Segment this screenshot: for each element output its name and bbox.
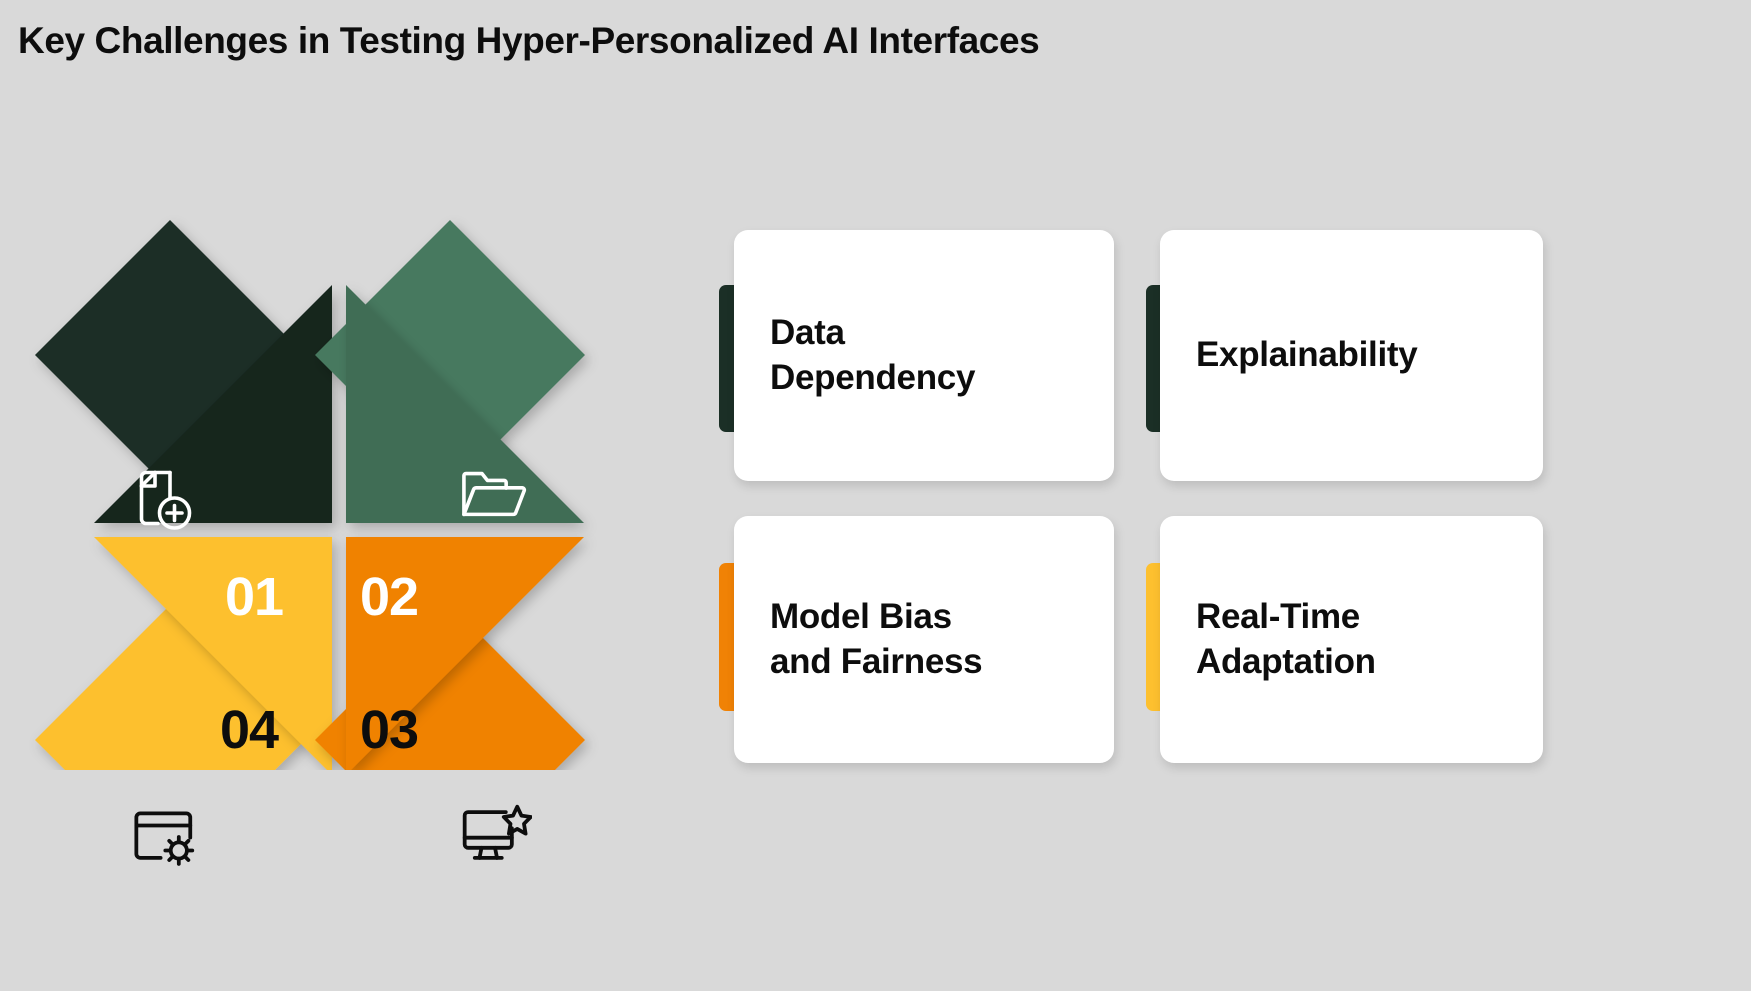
card-real-time-adaptation[interactable]: Real-Time Adaptation xyxy=(1160,516,1543,763)
card-model-bias-and-fairness[interactable]: Model Bias and Fairness xyxy=(734,516,1114,763)
pinwheel-shapes xyxy=(20,190,600,770)
monitor-star-icon xyxy=(458,804,532,866)
card-title-real-time-adaptation: Real-Time Adaptation xyxy=(1196,595,1376,685)
card-explainability[interactable]: Explainability xyxy=(1160,230,1543,481)
card-title-line-1: Data xyxy=(770,311,975,356)
card-title-explainability: Explainability xyxy=(1196,333,1417,378)
card-title-model-bias-and-fairness: Model Bias and Fairness xyxy=(770,595,982,685)
card-title-line-1: Real-Time xyxy=(1196,595,1376,640)
card-title-line-2: Adaptation xyxy=(1196,640,1376,685)
window-gear-icon xyxy=(130,808,202,870)
card-title-line-2: Dependency xyxy=(770,356,975,401)
card-data-dependency[interactable]: Data Dependency xyxy=(734,230,1114,481)
pinwheel-diagram: 01 02 03 04 xyxy=(20,190,600,770)
card-title-data-dependency: Data Dependency xyxy=(770,311,975,401)
card-title-line-1: Explainability xyxy=(1196,333,1417,378)
card-title-line-2: and Fairness xyxy=(770,640,982,685)
page-title: Key Challenges in Testing Hyper-Personal… xyxy=(18,20,1039,62)
card-title-line-1: Model Bias xyxy=(770,595,982,640)
